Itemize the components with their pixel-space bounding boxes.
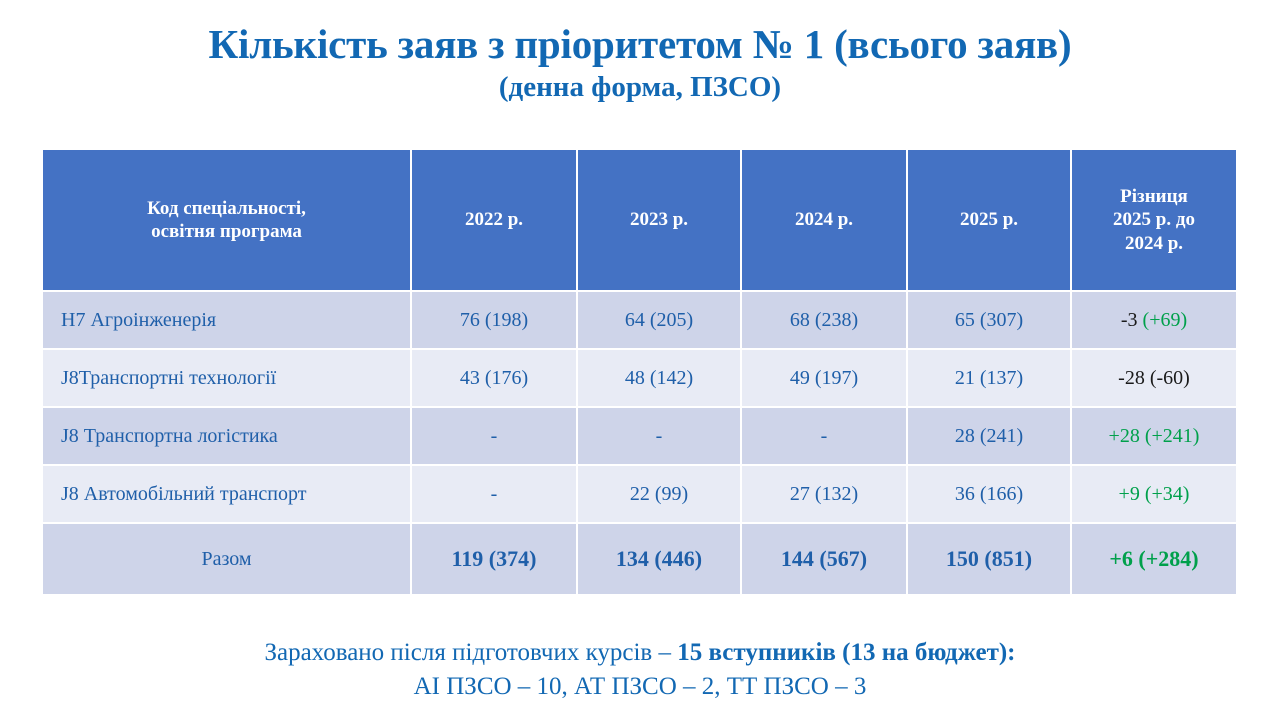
title-block: Кількість заяв з пріоритетом № 1 (всього… (0, 22, 1280, 105)
column-header-2024: 2024 р. (742, 150, 908, 292)
row-label: J8 Транспортна логістика (43, 408, 412, 466)
total-difference-value: +6 (+284) (1109, 546, 1198, 571)
cell-2025: 21 (137) (908, 350, 1072, 408)
table-row: Н7 Агроінженерія 76 (198) 64 (205) 68 (2… (43, 292, 1236, 350)
page-title: Кількість заяв з пріоритетом № 1 (всього… (0, 22, 1280, 66)
total-2022: 119 (374) (412, 524, 578, 594)
table-body: Н7 Агроінженерія 76 (198) 64 (205) 68 (2… (43, 292, 1236, 594)
cell-2024: 27 (132) (742, 466, 908, 524)
table-header: Код спеціальності, освітня програма 2022… (43, 150, 1236, 292)
cell-2023: - (578, 408, 742, 466)
difference-value-secondary: (+69) (1143, 309, 1188, 331)
column-header-2022: 2022 р. (412, 150, 578, 292)
column-header-specialty-line1: Код спеціальності, (147, 198, 306, 219)
footer-line2: АІ ПЗСО – 10, АТ ПЗСО – 2, ТТ ПЗСО – 3 (0, 670, 1280, 704)
column-header-difference-line1: Різниця (1120, 186, 1188, 207)
table-header-row: Код спеціальності, освітня програма 2022… (43, 150, 1236, 292)
column-header-specialty: Код спеціальності, освітня програма (43, 150, 412, 292)
slide: Кількість заяв з пріоритетом № 1 (всього… (0, 0, 1280, 720)
statistics-table-wrapper: Код спеціальності, освітня програма 2022… (43, 150, 1236, 594)
column-header-difference: Різниця 2025 р. до 2024 р. (1072, 150, 1236, 292)
cell-2023: 64 (205) (578, 292, 742, 350)
cell-difference: -28 (-60) (1072, 350, 1236, 408)
cell-2024: 68 (238) (742, 292, 908, 350)
total-2025: 150 (851) (908, 524, 1072, 594)
column-header-specialty-line2: освітня програма (151, 221, 302, 242)
column-header-2025: 2025 р. (908, 150, 1072, 292)
difference-value-primary: -3 (1121, 309, 1143, 331)
cell-2022: 43 (176) (412, 350, 578, 408)
difference-value-primary: -28 (-60) (1118, 367, 1190, 389)
cell-difference: +28 (+241) (1072, 408, 1236, 466)
statistics-table: Код спеціальності, освітня програма 2022… (43, 150, 1236, 594)
difference-value-primary: +28 (+241) (1109, 425, 1200, 447)
total-difference: +6 (+284) (1072, 524, 1236, 594)
table-total-row: Разом 119 (374) 134 (446) 144 (567) 150 … (43, 524, 1236, 594)
cell-2023: 48 (142) (578, 350, 742, 408)
table-row: J8 Транспортна логістика - - - 28 (241) … (43, 408, 1236, 466)
table-row: J8 Автомобільний транспорт - 22 (99) 27 … (43, 466, 1236, 524)
cell-2022: 76 (198) (412, 292, 578, 350)
row-label: J8 Автомобільний транспорт (43, 466, 412, 524)
difference-value-primary: +9 (+34) (1119, 483, 1190, 505)
row-label: J8Транспортні технології (43, 350, 412, 408)
footer-line1-normal: Зараховано після підготовчих курсів – (264, 639, 677, 666)
table-row: J8Транспортні технології 43 (176) 48 (14… (43, 350, 1236, 408)
total-2024: 144 (567) (742, 524, 908, 594)
cell-2023: 22 (99) (578, 466, 742, 524)
column-header-difference-line3: 2024 р. (1125, 233, 1183, 254)
footer-note: Зараховано після підготовчих курсів – 15… (0, 636, 1280, 704)
cell-2025: 36 (166) (908, 466, 1072, 524)
row-label: Н7 Агроінженерія (43, 292, 412, 350)
column-header-difference-line2: 2025 р. до (1113, 209, 1195, 230)
total-label: Разом (43, 524, 412, 594)
cell-2022: - (412, 408, 578, 466)
cell-2025: 65 (307) (908, 292, 1072, 350)
cell-2024: - (742, 408, 908, 466)
cell-2025: 28 (241) (908, 408, 1072, 466)
column-header-2023: 2023 р. (578, 150, 742, 292)
cell-2024: 49 (197) (742, 350, 908, 408)
total-2023: 134 (446) (578, 524, 742, 594)
cell-difference: +9 (+34) (1072, 466, 1236, 524)
cell-difference: -3 (+69) (1072, 292, 1236, 350)
page-subtitle: (денна форма, ПЗСО) (0, 70, 1280, 105)
cell-2022: - (412, 466, 578, 524)
footer-line1-bold: 15 вступників (13 на бюджет): (677, 639, 1015, 666)
